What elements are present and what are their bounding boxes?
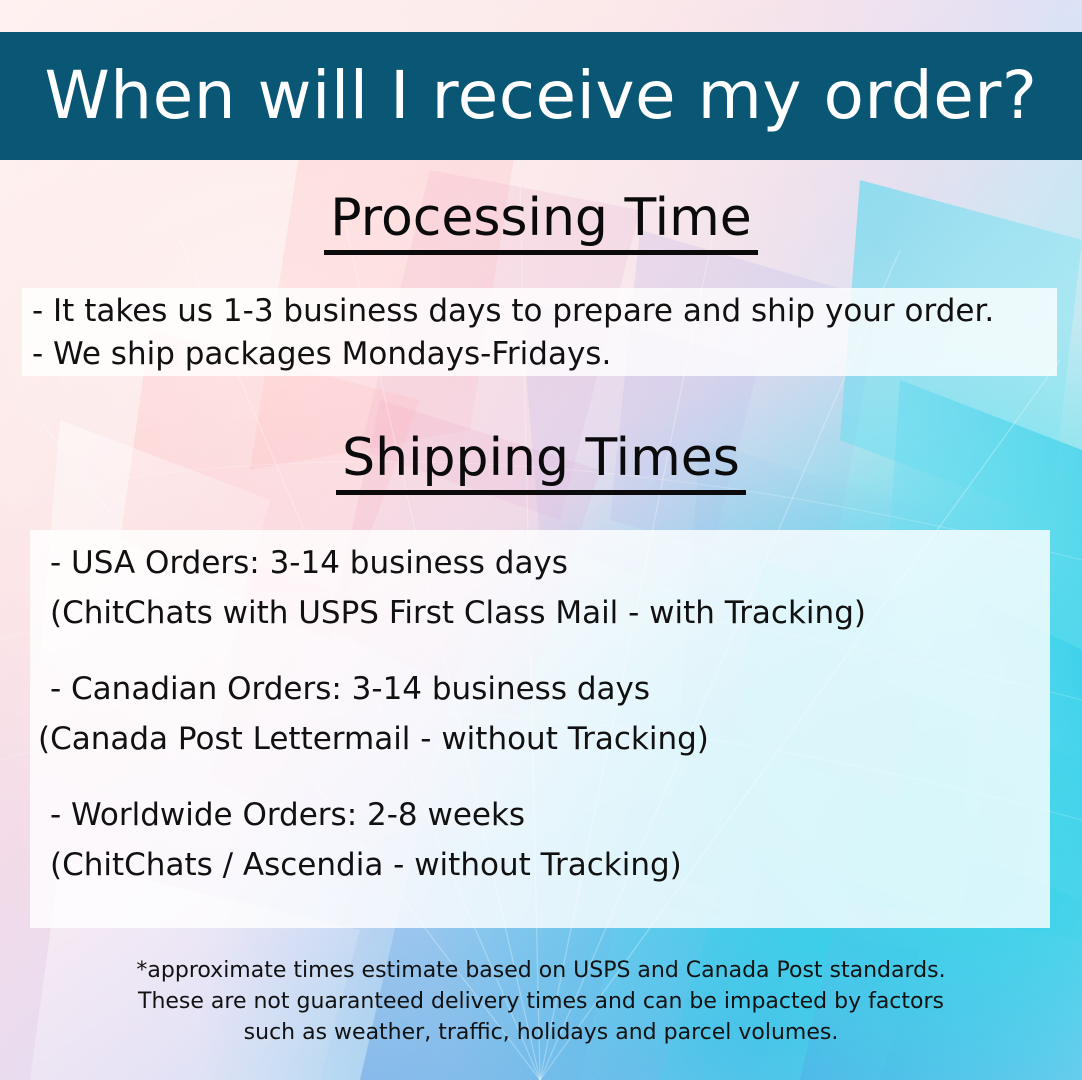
processing-line-1: - It takes us 1-3 business days to prepa… [32, 290, 1057, 333]
shipping-usa-destination: - USA Orders: 3-14 business days [38, 538, 1050, 588]
shipping-times-panel: - USA Orders: 3-14 business days (ChitCh… [30, 530, 1050, 928]
shipping-block-canada: - Canadian Orders: 3-14 business days (C… [38, 664, 1050, 764]
disclaimer-line-1: *approximate times estimate based on USP… [0, 955, 1082, 986]
shipping-canada-carrier: (Canada Post Lettermail - without Tracki… [38, 714, 1050, 764]
shipping-worldwide-destination: - Worldwide Orders: 2-8 weeks [38, 790, 1050, 840]
shipping-canada-destination: - Canadian Orders: 3-14 business days [38, 664, 1050, 714]
shipping-heading-label: Shipping Times [336, 432, 746, 495]
shipping-worldwide-carrier: (ChitChats / Ascendia - without Tracking… [38, 840, 1050, 890]
processing-line-2: - We ship packages Mondays-Fridays. [32, 333, 1057, 376]
section-heading-processing-time: Processing Time [0, 192, 1082, 255]
disclaimer-line-2: These are not guaranteed delivery times … [0, 986, 1082, 1017]
processing-time-panel: - It takes us 1-3 business days to prepa… [22, 288, 1057, 376]
shipping-usa-carrier: (ChitChats with USPS First Class Mail - … [38, 588, 1050, 638]
page-title: When will I receive my order? [45, 63, 1038, 129]
disclaimer-line-3: such as weather, traffic, holidays and p… [0, 1017, 1082, 1048]
title-banner: When will I receive my order? [0, 32, 1082, 160]
shipping-block-usa: - USA Orders: 3-14 business days (ChitCh… [38, 538, 1050, 638]
shipping-info-poster: When will I receive my order? Processing… [0, 0, 1082, 1080]
processing-heading-label: Processing Time [324, 192, 757, 255]
section-heading-shipping-times: Shipping Times [0, 432, 1082, 495]
disclaimer-note: *approximate times estimate based on USP… [0, 955, 1082, 1048]
shipping-block-worldwide: - Worldwide Orders: 2-8 weeks (ChitChats… [38, 790, 1050, 890]
